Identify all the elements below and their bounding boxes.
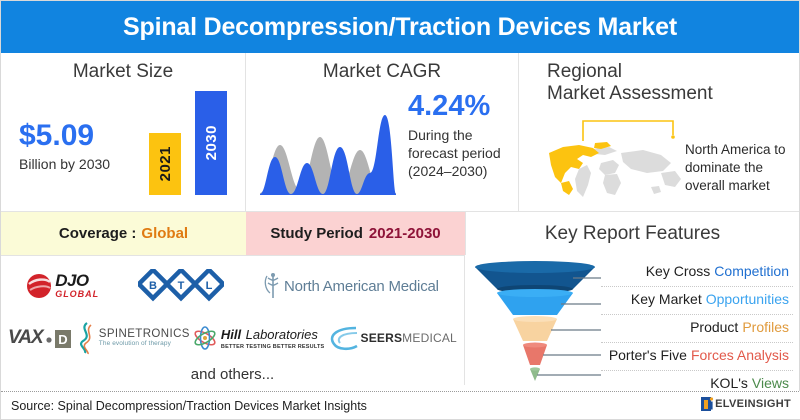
logo-seers-medical: SEERSMEDICAL: [326, 324, 456, 352]
coverage-label: Coverage :: [59, 225, 137, 242]
market-size-body: $5.09 Billion by 2030 2021 2030: [11, 83, 235, 195]
page-title: Spinal Decompression/Traction Devices Ma…: [123, 13, 677, 42]
market-cagr-body: 4.24% During the forecast period (2024–2…: [256, 83, 508, 195]
market-cagr-title: Market CAGR: [256, 61, 508, 83]
bar-2021: 2021: [149, 133, 181, 195]
btl-diamonds-icon: B T L: [138, 269, 224, 303]
feature-4-text-a: Porter's Five: [609, 347, 687, 363]
spinetronics-wordmark: SPINETRONICS: [99, 329, 190, 341]
study-period-value: 2021-2030: [369, 225, 441, 242]
svg-text:L: L: [205, 280, 212, 292]
feature-1-text-a: Key Cross: [646, 263, 711, 279]
funnel-layer-2: [497, 289, 573, 315]
seers-swoosh-icon: [326, 324, 360, 352]
hill-wordmark-light: Laboratories: [246, 327, 318, 342]
regional-title-line2: Market Assessment: [547, 83, 789, 105]
page-header: Spinal Decompression/Traction Devices Ma…: [1, 1, 799, 53]
funnel-layer-3: [513, 316, 557, 341]
market-size-value: $5.09: [19, 121, 110, 151]
djo-sphere-icon: [26, 273, 52, 299]
delveinsight-d-icon: [701, 396, 715, 412]
regional-body: North America to dominate the overall ma…: [529, 105, 789, 217]
coverage-strip: Coverage : Global Study Period 2021-2030…: [1, 211, 799, 255]
feature-3-text-a: Product: [690, 319, 738, 335]
world-map-svg: [539, 129, 689, 203]
funnel-chart: [469, 259, 601, 383]
feature-item-1: Key CrossCompetition: [601, 259, 793, 287]
and-others-text: and others...: [7, 366, 458, 383]
funnel-layer-5: [530, 367, 540, 381]
hill-atom-icon: [192, 325, 218, 351]
feature-4-text-b: Forces Analysis: [691, 347, 789, 363]
key-report-features-title: Key Report Features: [545, 223, 720, 245]
feature-5-text-b: Views: [752, 375, 789, 391]
feature-1-text-b: Competition: [714, 263, 789, 279]
cagr-text-group: 4.24% During the forecast period (2024–2…: [398, 92, 508, 195]
bottom-row: DJO GLOBAL B T L: [1, 255, 799, 385]
study-period-cell: Study Period 2021-2030: [246, 212, 465, 255]
north-american-medical-wordmark: North American Medical: [284, 278, 439, 295]
vaxd-dot-d-icon: D: [43, 327, 73, 349]
hill-tagline: BETTER TESTING BETTER RESULTS: [221, 344, 324, 350]
coverage-value: Global: [141, 225, 188, 242]
logo-north-american-medical: North American Medical: [262, 271, 439, 301]
stats-row: Market Size $5.09 Billion by 2030 2021 2…: [1, 53, 799, 211]
market-size-value-group: $5.09 Billion by 2030: [19, 121, 110, 172]
funnel-layer-1: [475, 261, 595, 293]
cagr-wave-chart: [258, 95, 398, 195]
regional-panel: Regional Market Assessment: [519, 53, 799, 211]
feature-3-text-b: Profiles: [742, 319, 789, 335]
cagr-caption: During the forecast period (2024–2030): [408, 127, 508, 181]
market-size-panel: Market Size $5.09 Billion by 2030 2021 2…: [1, 53, 245, 211]
svg-text:D: D: [58, 332, 67, 347]
infographic-page: Spinal Decompression/Traction Devices Ma…: [0, 0, 800, 420]
cagr-value: 4.24%: [408, 92, 508, 121]
coverage-cell: Coverage : Global: [1, 212, 246, 255]
seers-wordmark-medical: MEDICAL: [402, 331, 457, 345]
feature-5-text-a: KOL's: [710, 375, 748, 391]
page-footer: Source: Spinal Decompression/Traction De…: [1, 391, 800, 419]
source-text: Source: Spinal Decompression/Traction De…: [1, 399, 367, 413]
market-size-caption: Billion by 2030: [19, 156, 110, 172]
regional-callout-text: North America to dominate the overall ma…: [685, 141, 800, 195]
bar-2030: 2030: [195, 91, 227, 195]
logo-djo-global: DJO GLOBAL: [26, 273, 99, 299]
bar-2021-label: 2021: [157, 146, 174, 181]
logo-vaxd: VAX D: [8, 327, 73, 349]
feature-item-2: Key MarketOpportunities: [601, 287, 793, 315]
seers-wordmark: SEERS: [360, 331, 402, 345]
market-cagr-panel: Market CAGR 4.24% During the forecast pe…: [245, 53, 519, 211]
company-logo-row-1: DJO GLOBAL B T L: [7, 260, 458, 312]
spinetronics-tagline: The evolution of therapy: [99, 340, 190, 347]
delveinsight-logo: ELVEINSIGHT: [701, 396, 791, 412]
feature-2-text-a: Key Market: [631, 291, 702, 307]
logo-hill-laboratories: Hill Laboratories BETTER TESTING BETTER …: [192, 325, 324, 351]
hill-wordmark-group: Hill Laboratories: [221, 326, 324, 344]
funnel-layer-4: [523, 343, 547, 366]
market-size-title: Market Size: [11, 61, 235, 83]
feature-item-3: ProductProfiles: [601, 315, 793, 343]
logo-btl: B T L: [138, 269, 224, 303]
djo-tagline: GLOBAL: [55, 289, 99, 299]
caduceus-icon: [262, 271, 284, 301]
world-map: [539, 129, 689, 203]
hill-wordmark-bold: Hill: [221, 327, 241, 342]
company-logos-panel: DJO GLOBAL B T L: [1, 255, 465, 385]
feature-2-text-b: Opportunities: [706, 291, 789, 307]
spinetronics-spine-icon: [75, 321, 97, 355]
logo-spinetronics: SPINETRONICS The evolution of therapy: [75, 321, 190, 355]
regional-title: Regional Market Assessment: [529, 61, 789, 105]
key-features-list: Key CrossCompetition Key MarketOpportuni…: [601, 257, 793, 385]
company-logo-row-2: VAX D SPINETRONICS The evolution of th: [7, 312, 458, 364]
svg-text:T: T: [177, 280, 184, 292]
djo-wordmark: DJO: [55, 273, 99, 289]
key-report-features-panel: Key CrossCompetition Key MarketOpportuni…: [465, 255, 799, 385]
study-period-label: Study Period: [270, 225, 363, 242]
key-report-features-header: Key Report Features: [465, 212, 799, 255]
delveinsight-wordmark: ELVEINSIGHT: [715, 398, 791, 410]
feature-item-4: Porter's FiveForces Analysis: [601, 343, 793, 371]
vaxd-wordmark: VAX: [8, 327, 43, 349]
regional-title-line1: Regional: [547, 61, 789, 83]
market-size-bar-chart: 2021 2030: [149, 83, 227, 195]
svg-text:B: B: [149, 280, 157, 292]
bar-2030-label: 2030: [203, 125, 220, 160]
